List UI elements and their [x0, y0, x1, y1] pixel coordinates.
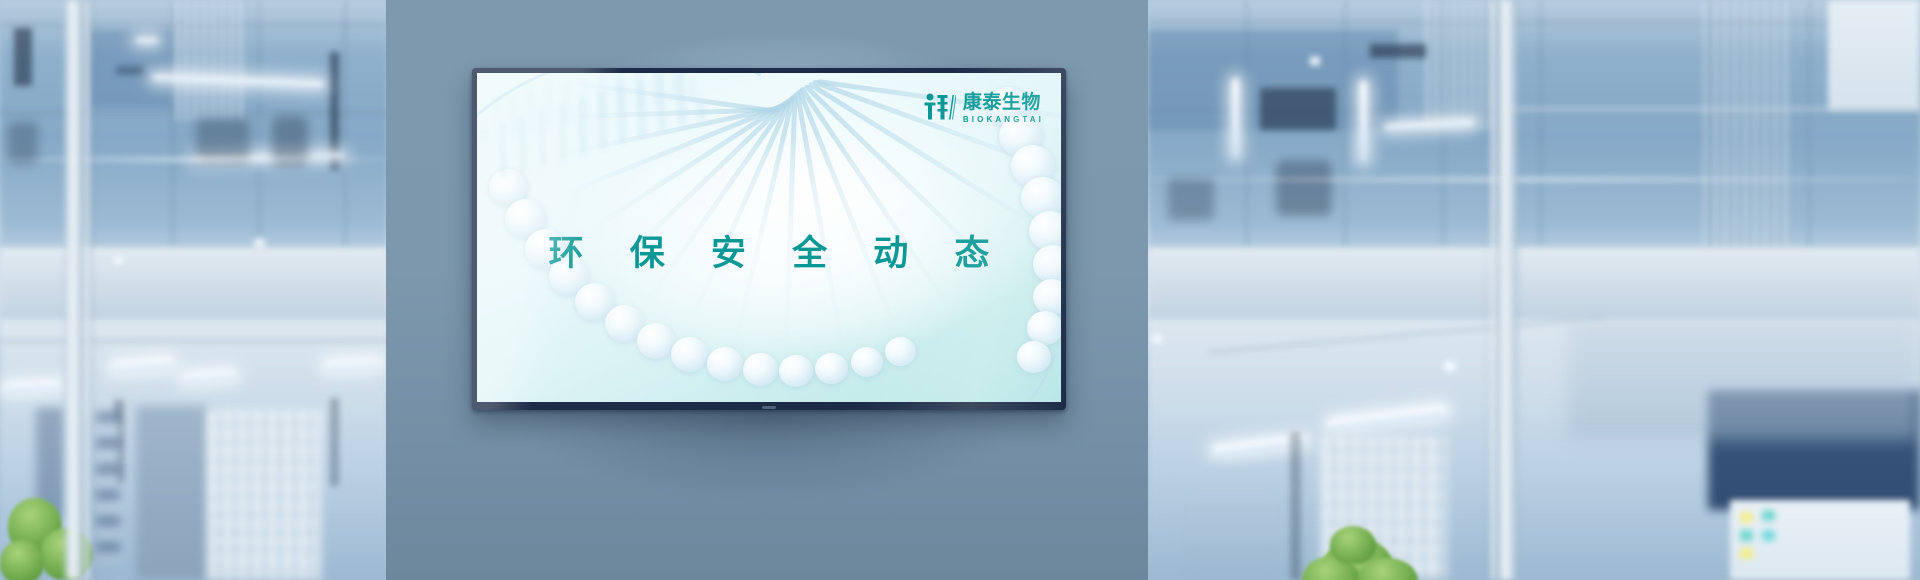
glass-mullion-h — [1148, 22, 1920, 24]
downlight — [1150, 334, 1164, 344]
sticky-note — [1740, 530, 1753, 541]
glass-mullion-v — [258, 0, 260, 250]
plant-leaves — [1330, 526, 1376, 564]
glass-mullion-v — [1808, 0, 1810, 250]
ceiling-line — [0, 340, 388, 342]
shelf-unit — [96, 412, 120, 562]
logo-name-cn: 康泰生物 — [963, 93, 1044, 112]
city-building-facade — [208, 410, 320, 580]
dark-column — [1290, 432, 1301, 580]
strip-light — [136, 38, 158, 43]
window-mullion-left — [64, 0, 86, 580]
ir-sensor-icon — [762, 406, 776, 409]
cubicle-partition — [136, 406, 208, 580]
glass-mullion-v — [1540, 0, 1542, 250]
window-mullion-right-inner — [1490, 0, 1497, 580]
glass-railing — [0, 158, 388, 161]
glass-office-panel — [88, 30, 172, 108]
strip-light — [1360, 80, 1367, 162]
company-logo: 康泰生物 BIOKANGTAI — [924, 92, 1044, 125]
potted-plant — [1302, 518, 1420, 580]
sticky-note — [1740, 548, 1753, 559]
glass-mullion-v — [172, 0, 174, 250]
floor-slab-right — [1148, 248, 1920, 320]
downlight — [112, 256, 124, 265]
logo-name-en: BIOKANGTAI — [963, 116, 1044, 124]
plant-leaves — [0, 540, 44, 580]
glass-railing — [1148, 178, 1920, 181]
dark-column — [14, 28, 32, 86]
vertical-blinds — [176, 0, 248, 120]
dark-column — [330, 398, 339, 486]
window-mullion-left-inner — [84, 0, 91, 580]
vertical-blinds — [1426, 0, 1496, 130]
office-chair — [1168, 178, 1214, 220]
slide-title: 环 保 安 全 动 态 — [477, 225, 1061, 276]
wall-mounted-tv[interactable]: 环 保 安 全 动 态 康泰生物 — [472, 68, 1066, 410]
floor-slab-left — [0, 248, 388, 320]
vertical-blinds — [1704, 0, 1790, 250]
office-scene: 环 保 安 全 动 态 康泰生物 — [0, 0, 1920, 580]
sticky-note — [1762, 510, 1775, 521]
window-mullion-right — [1496, 0, 1518, 580]
downlight — [1308, 56, 1322, 66]
sticky-note-board — [1730, 500, 1910, 580]
ceiling-soffit — [1568, 320, 1918, 440]
dark-panel — [1370, 44, 1426, 58]
sticky-note — [1740, 512, 1753, 523]
downlight — [252, 238, 267, 249]
office-right-window — [1148, 0, 1920, 580]
monitor — [1260, 88, 1336, 130]
tv-drop-shadow — [386, 400, 1150, 580]
glass-mullion-v — [344, 0, 346, 250]
tv-screen[interactable]: 环 保 安 全 动 态 康泰生物 — [477, 73, 1061, 402]
strip-light — [1232, 78, 1239, 158]
city-blur — [1182, 468, 1282, 580]
sticky-note — [1762, 530, 1775, 541]
biokangtai-mark-icon — [924, 92, 956, 125]
wall-panel — [1828, 0, 1920, 110]
logo-text: 康泰生物 BIOKANGTAI — [963, 93, 1044, 124]
office-left-window — [0, 0, 388, 580]
downlight — [1442, 360, 1458, 372]
office-chair — [1276, 160, 1332, 216]
dark-column — [330, 52, 339, 170]
